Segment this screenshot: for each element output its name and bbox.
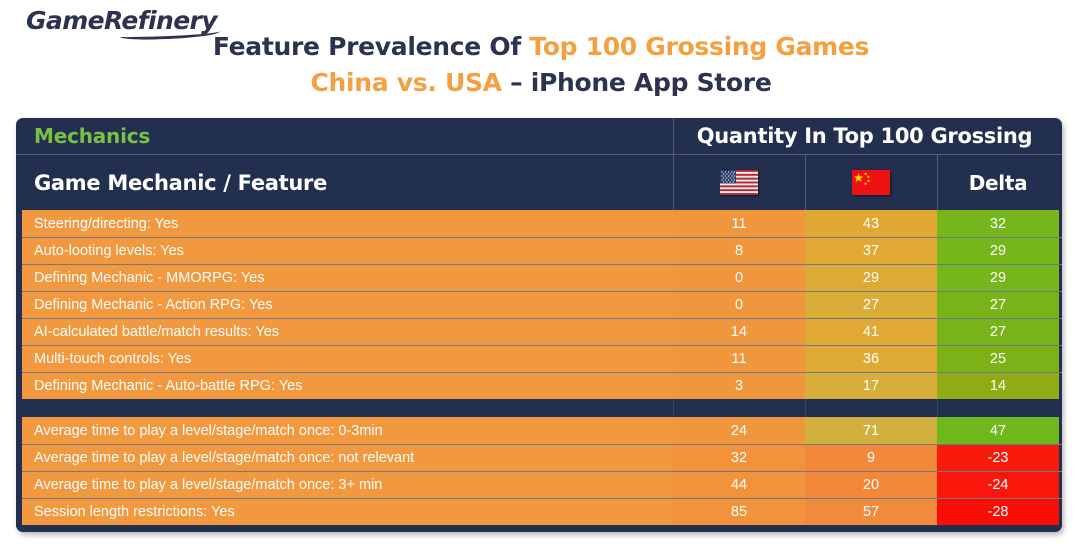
row-label: Defining Mechanic - Action RPG: Yes bbox=[16, 292, 673, 318]
title-line-2-accent: China vs. USA bbox=[310, 68, 501, 97]
table-row: Session length restrictions: Yes8557-28 bbox=[16, 498, 1062, 525]
page-title: Feature Prevalence Of Top 100 Grossing G… bbox=[0, 32, 1082, 98]
row-label: Multi-touch controls: Yes bbox=[16, 346, 673, 372]
table-row: Average time to play a level/stage/match… bbox=[16, 417, 1062, 444]
table-row: Average time to play a level/stage/match… bbox=[16, 471, 1062, 498]
sep-divider-3 bbox=[937, 399, 938, 417]
left-gutter bbox=[16, 210, 22, 525]
delta-value-cell: 14 bbox=[937, 373, 1059, 399]
china-value-cell: 57 bbox=[805, 499, 937, 525]
title-line-2: China vs. USA – iPhone App Store bbox=[0, 68, 1082, 98]
row-label: Auto-looting levels: Yes bbox=[16, 238, 673, 264]
china-value-cell: 37 bbox=[805, 238, 937, 264]
table-row: Defining Mechanic - Action RPG: Yes02727 bbox=[16, 291, 1062, 318]
delta-value-cell: 27 bbox=[937, 292, 1059, 318]
sep-divider-1 bbox=[673, 399, 674, 417]
china-value-cell: 9 bbox=[805, 445, 937, 471]
china-value-cell: 27 bbox=[805, 292, 937, 318]
delta-value-cell: -23 bbox=[937, 445, 1059, 471]
usa-column-header bbox=[673, 170, 805, 195]
session-group: Average time to play a level/stage/match… bbox=[16, 417, 1062, 525]
usa-value-cell: 85 bbox=[673, 499, 805, 525]
sep-divider-2 bbox=[805, 399, 806, 417]
table-bottom-strip bbox=[16, 525, 1062, 527]
group-separator-row bbox=[16, 399, 1062, 417]
title-line-1-plain: Feature Prevalence Of bbox=[213, 32, 529, 61]
table-row: Defining Mechanic - Auto-battle RPG: Yes… bbox=[16, 372, 1062, 399]
usa-value-cell: 11 bbox=[673, 210, 805, 237]
title-line-1: Feature Prevalence Of Top 100 Grossing G… bbox=[0, 32, 1082, 62]
table-row: Defining Mechanic - MMORPG: Yes02929 bbox=[16, 264, 1062, 291]
delta-value-cell: 25 bbox=[937, 346, 1059, 372]
table-row: Average time to play a level/stage/match… bbox=[16, 444, 1062, 471]
china-value-cell: 41 bbox=[805, 319, 937, 345]
row-label: Session length restrictions: Yes bbox=[16, 499, 673, 525]
delta-value-cell: 32 bbox=[937, 210, 1059, 237]
header-divider-1 bbox=[673, 118, 674, 154]
row-label: AI-calculated battle/match results: Yes bbox=[16, 319, 673, 345]
usa-flag-icon bbox=[720, 170, 758, 195]
row-label: Steering/directing: Yes bbox=[16, 210, 673, 237]
china-value-cell: 20 bbox=[805, 472, 937, 498]
china-value-cell: 36 bbox=[805, 346, 937, 372]
mechanic-column-header: Game Mechanic / Feature bbox=[16, 171, 673, 195]
delta-value-cell: -24 bbox=[937, 472, 1059, 498]
usa-value-cell: 24 bbox=[673, 417, 805, 444]
table-row: Multi-touch controls: Yes113625 bbox=[16, 345, 1062, 372]
row-label: Defining Mechanic - MMORPG: Yes bbox=[16, 265, 673, 291]
delta-value-cell: -28 bbox=[937, 499, 1059, 525]
quantity-header: Quantity In Top 100 Grossing bbox=[673, 124, 1062, 148]
china-value-cell: 29 bbox=[805, 265, 937, 291]
delta-value-cell: 47 bbox=[937, 417, 1059, 444]
usa-value-cell: 32 bbox=[673, 445, 805, 471]
delta-column-header: Delta bbox=[937, 171, 1059, 195]
table-header-columns: Game Mechanic / Feature bbox=[16, 155, 1062, 210]
china-value-cell: 43 bbox=[805, 210, 937, 237]
row-label: Average time to play a level/stage/match… bbox=[16, 472, 673, 498]
table-row: AI-calculated battle/match results: Yes1… bbox=[16, 318, 1062, 345]
usa-value-cell: 14 bbox=[673, 319, 805, 345]
title-line-1-accent: Top 100 Grossing Games bbox=[529, 32, 869, 61]
usa-value-cell: 3 bbox=[673, 373, 805, 399]
row-label: Defining Mechanic - Auto-battle RPG: Yes bbox=[16, 373, 673, 399]
china-value-cell: 17 bbox=[805, 373, 937, 399]
row-label: Average time to play a level/stage/match… bbox=[16, 417, 673, 444]
usa-value-cell: 0 bbox=[673, 292, 805, 318]
mechanics-group: Steering/directing: Yes114332Auto-lootin… bbox=[16, 210, 1062, 399]
usa-value-cell: 11 bbox=[673, 346, 805, 372]
china-flag-icon bbox=[852, 170, 890, 195]
usa-value-cell: 8 bbox=[673, 238, 805, 264]
china-column-header bbox=[805, 170, 937, 195]
usa-value-cell: 0 bbox=[673, 265, 805, 291]
column-divider-2 bbox=[805, 155, 806, 210]
row-label: Average time to play a level/stage/match… bbox=[16, 445, 673, 471]
usa-value-cell: 44 bbox=[673, 472, 805, 498]
table-body: Steering/directing: Yes114332Auto-lootin… bbox=[16, 210, 1062, 525]
delta-value-cell: 27 bbox=[937, 319, 1059, 345]
china-value-cell: 71 bbox=[805, 417, 937, 444]
delta-value-cell: 29 bbox=[937, 265, 1059, 291]
table-row: Auto-looting levels: Yes83729 bbox=[16, 237, 1062, 264]
column-divider-1 bbox=[673, 155, 674, 210]
column-divider-3 bbox=[937, 155, 938, 210]
feature-prevalence-table: Mechanics Quantity In Top 100 Grossing G… bbox=[16, 118, 1062, 532]
section-label: Mechanics bbox=[16, 124, 673, 148]
delta-value-cell: 29 bbox=[937, 238, 1059, 264]
title-line-2-plain: – iPhone App Store bbox=[502, 68, 772, 97]
table-header-top: Mechanics Quantity In Top 100 Grossing bbox=[16, 118, 1062, 154]
table-row: Steering/directing: Yes114332 bbox=[16, 210, 1062, 237]
